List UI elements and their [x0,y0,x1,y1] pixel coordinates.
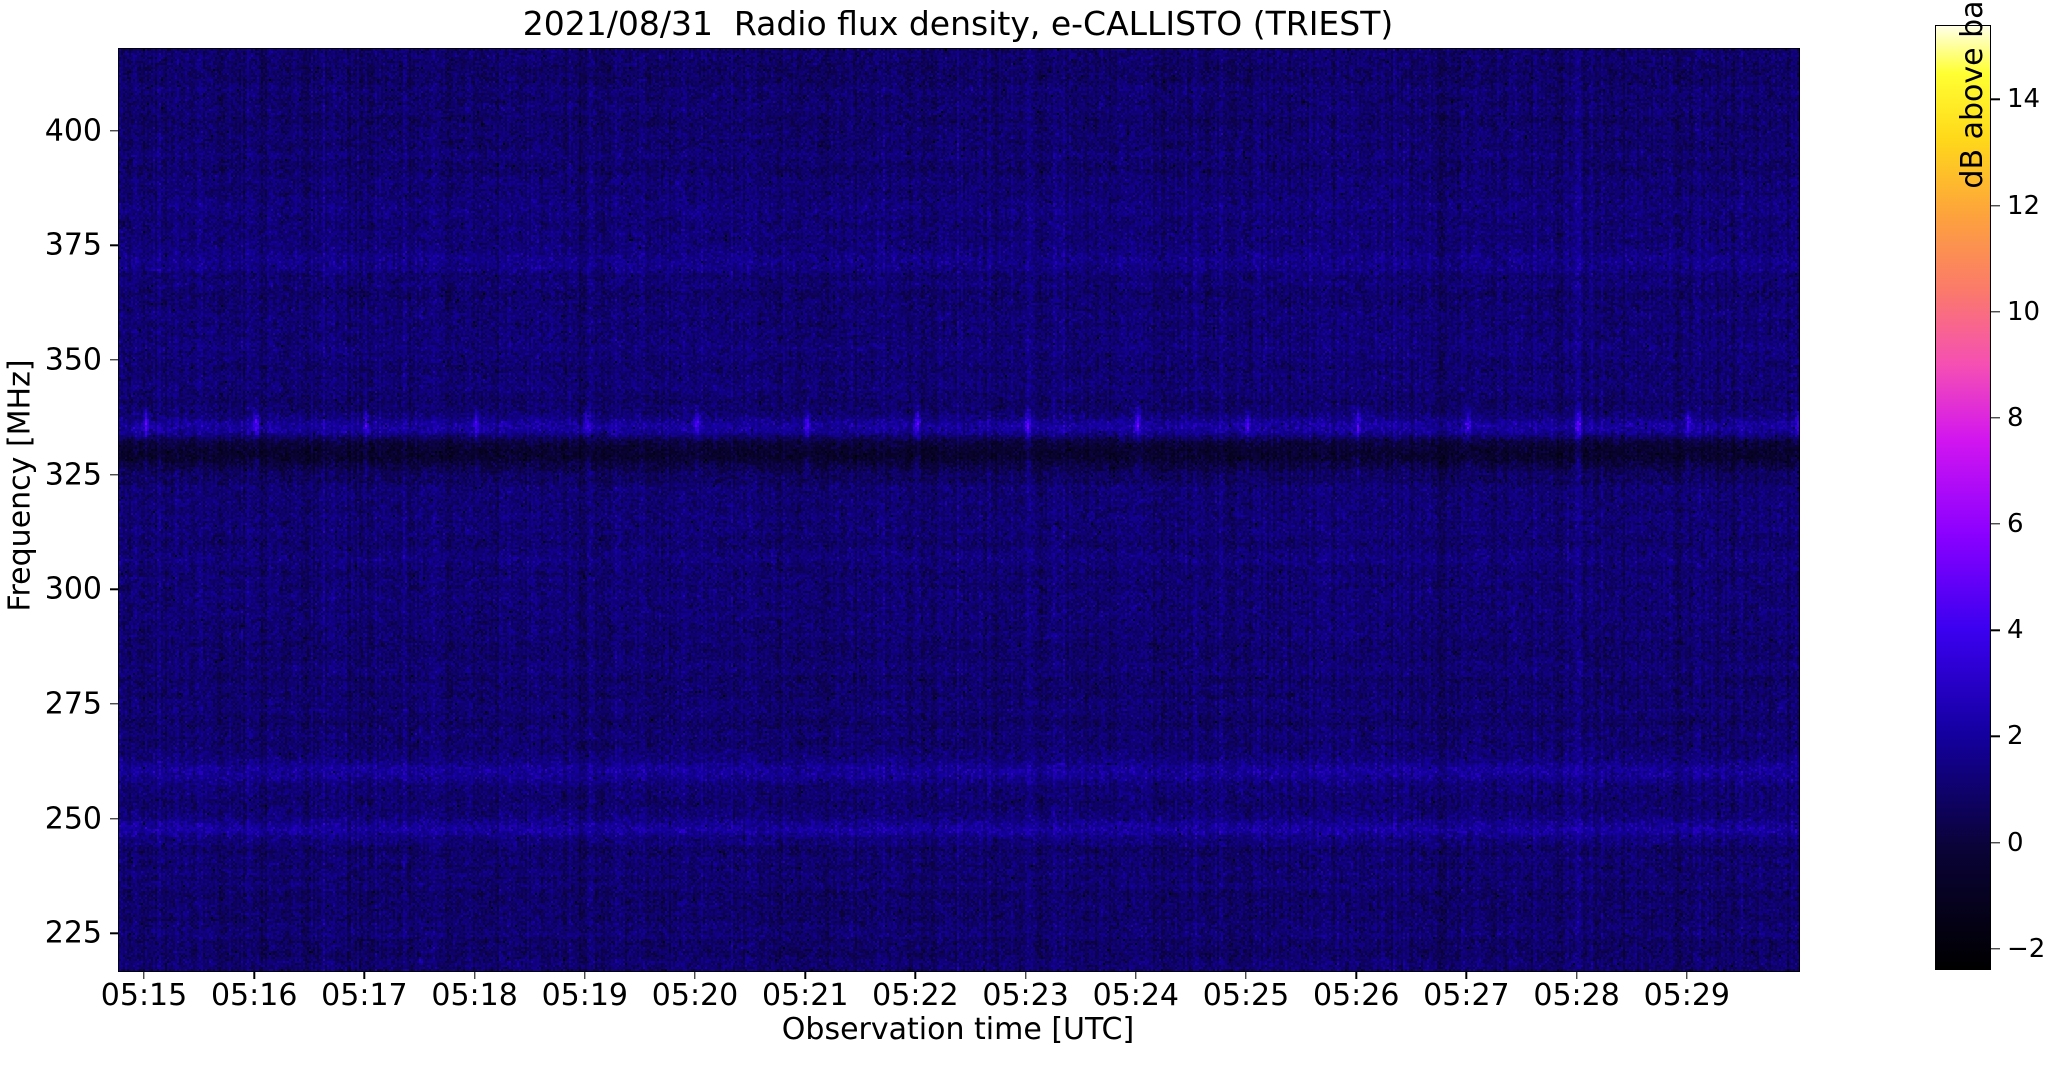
page-title: 2021/08/31 Radio flux density, e-CALLIST… [118,2,1798,46]
x-tick-label: 05:17 [321,978,407,1013]
y-tick-label: 250 [30,801,102,836]
y-tick-mark [110,933,118,934]
colorbar-tick-mark [1991,842,2000,843]
x-tick-label: 05:27 [1423,978,1509,1013]
y-tick-mark [110,703,118,704]
spectrogram-plot-area [118,48,1800,972]
colorbar-tick-mark [1991,948,2000,949]
colorbar-tick-label: 10 [2007,297,2040,327]
x-tick-mark [1355,971,1356,979]
colorbar-tick-mark [1991,736,2000,737]
x-tick-label: 05:28 [1533,978,1619,1013]
y-tick-label: 350 [30,342,102,377]
x-tick-label: 05:15 [101,978,187,1013]
colorbar-tick-label: 14 [2007,84,2040,114]
y-tick-mark [110,245,118,246]
colorbar-tick-mark [1991,99,2000,100]
x-tick-mark [1686,971,1687,979]
y-tick-mark [110,818,118,819]
colorbar-tick-mark [1991,417,2000,418]
colorbar-tick-label: 12 [2007,191,2040,221]
y-tick-label: 225 [30,916,102,951]
x-tick-label: 05:21 [762,978,848,1013]
x-tick-label: 05:29 [1644,978,1730,1013]
y-tick-mark [110,589,118,590]
colorbar-tick-label: 6 [2007,509,2024,539]
x-tick-label: 05:22 [872,978,958,1013]
y-tick-label: 400 [30,113,102,148]
colorbar-tick-mark [1991,311,2000,312]
colorbar-tick-mark [1991,630,2000,631]
y-tick-mark [110,359,118,360]
x-tick-mark [694,971,695,979]
x-tick-label: 05:20 [652,978,738,1013]
x-tick-mark [804,971,805,979]
y-tick-mark [110,130,118,131]
colorbar-tick-label: 0 [2007,828,2024,858]
colorbar-label: dB above background [1955,0,1990,497]
x-tick-label: 05:19 [542,978,628,1013]
x-tick-mark [143,971,144,979]
x-tick-mark [364,971,365,979]
x-tick-mark [1135,971,1136,979]
colorbar-tick-label: 8 [2007,403,2024,433]
y-tick-label: 325 [30,457,102,492]
x-tick-label: 05:23 [982,978,1068,1013]
y-tick-label: 375 [30,228,102,263]
x-tick-mark [1245,971,1246,979]
x-tick-mark [584,971,585,979]
x-tick-mark [1466,971,1467,979]
x-tick-mark [474,971,475,979]
y-tick-label: 300 [30,572,102,607]
x-tick-label: 05:18 [431,978,517,1013]
spectrogram-heatmap [119,49,1799,971]
x-tick-label: 05:26 [1313,978,1399,1013]
colorbar-tick-label: 2 [2007,721,2024,751]
colorbar-tick-mark [1991,523,2000,524]
x-tick-mark [1576,971,1577,979]
y-tick-label: 275 [30,686,102,721]
colorbar-tick-label: 4 [2007,615,2024,645]
x-tick-label: 05:25 [1203,978,1289,1013]
x-axis-label: Observation time [UTC] [118,1012,1798,1047]
colorbar-tick-label: −2 [2007,934,2045,964]
x-tick-mark [1025,971,1026,979]
colorbar-tick-mark [1991,205,2000,206]
x-tick-label: 05:24 [1093,978,1179,1013]
x-tick-mark [253,971,254,979]
x-tick-label: 05:16 [211,978,297,1013]
x-tick-mark [915,971,916,979]
y-tick-mark [110,474,118,475]
